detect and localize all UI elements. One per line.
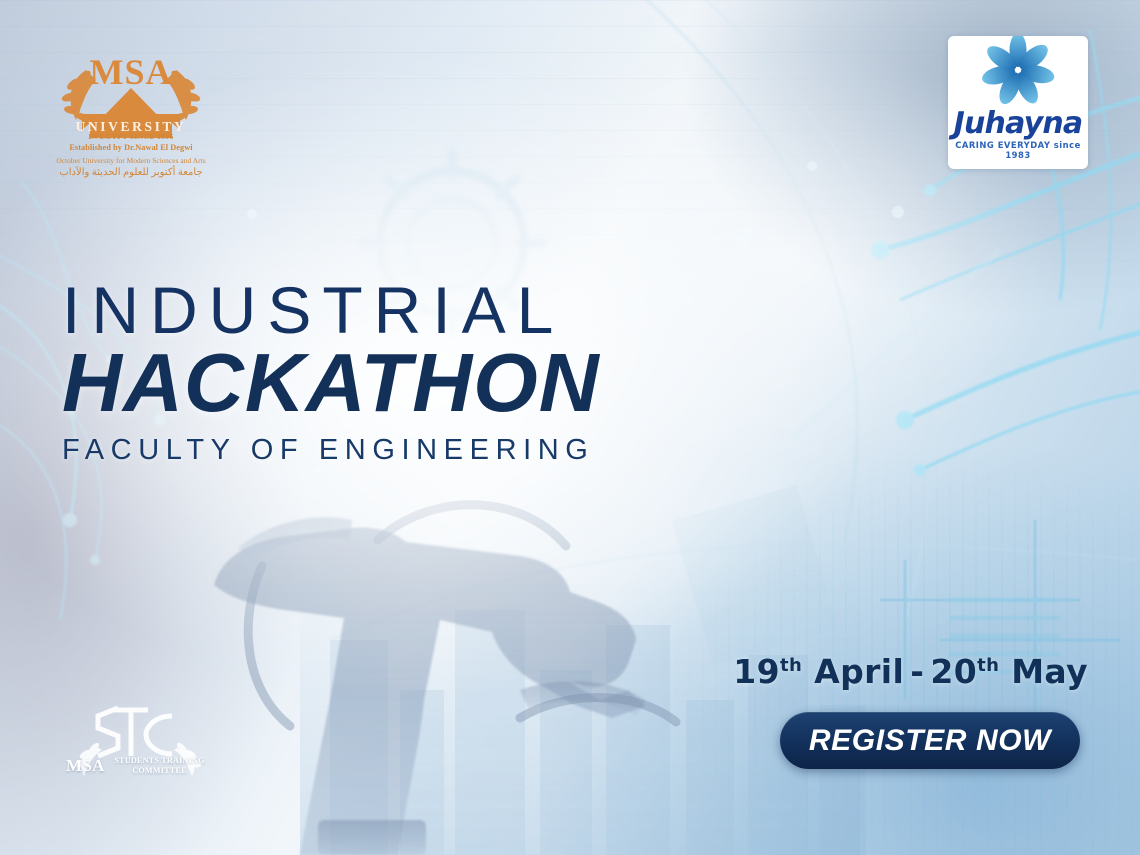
msa-university-logo: MSA [56,48,206,176]
end-ordinal: th [977,655,999,676]
end-day: 20 [930,652,977,691]
start-ordinal: th [780,655,802,676]
poster-headline: INDUSTRIAL HACKATHON FACULTY OF ENGINEER… [62,277,600,465]
msa-arabic-line: جامعة أكتوبر للعلوم الحديثة والآداب [56,167,206,178]
stc-committee-logo: MSA STUDENTS TRAINING COMMITTEE [62,694,214,790]
sponsor-logo-juhayna: Juhayna CARING EVERYDAY since 1983 [948,36,1088,169]
stc-org-label: MSA [66,756,105,776]
msa-fullname-line: October University for Modern Sciences a… [56,156,206,165]
headline-subtitle-faculty: FACULTY OF ENGINEERING [62,436,600,465]
headline-line-hackathon: HACKATHON [62,341,600,426]
start-month: April [814,652,904,691]
event-poster: MSA [0,0,1140,855]
register-now-button[interactable]: REGISTER NOW [780,712,1080,769]
stc-committee-line1: STUDENTS TRAINING [114,756,204,765]
stc-committee-line2: COMMITTEE [132,766,187,775]
event-date-range: 19th April-20th May [733,652,1088,691]
svg-text:MSA: MSA [90,52,173,92]
end-month: May [1011,652,1088,691]
juhayna-flower-icon [948,36,1088,106]
date-separator: - [904,652,930,691]
start-day: 19 [733,652,780,691]
msa-founder-line: Established by Dr.Nawal El Degwi [56,143,206,152]
headline-line-industrial: INDUSTRIAL [62,277,600,343]
juhayna-wordmark: Juhayna [948,106,1088,141]
msa-since-line: IN EGYPT SINCE 1996 [56,132,206,141]
juhayna-tagline: CARING EVERYDAY since 1983 [948,140,1088,160]
stc-committee-label: STUDENTS TRAINING COMMITTEE [107,756,212,775]
